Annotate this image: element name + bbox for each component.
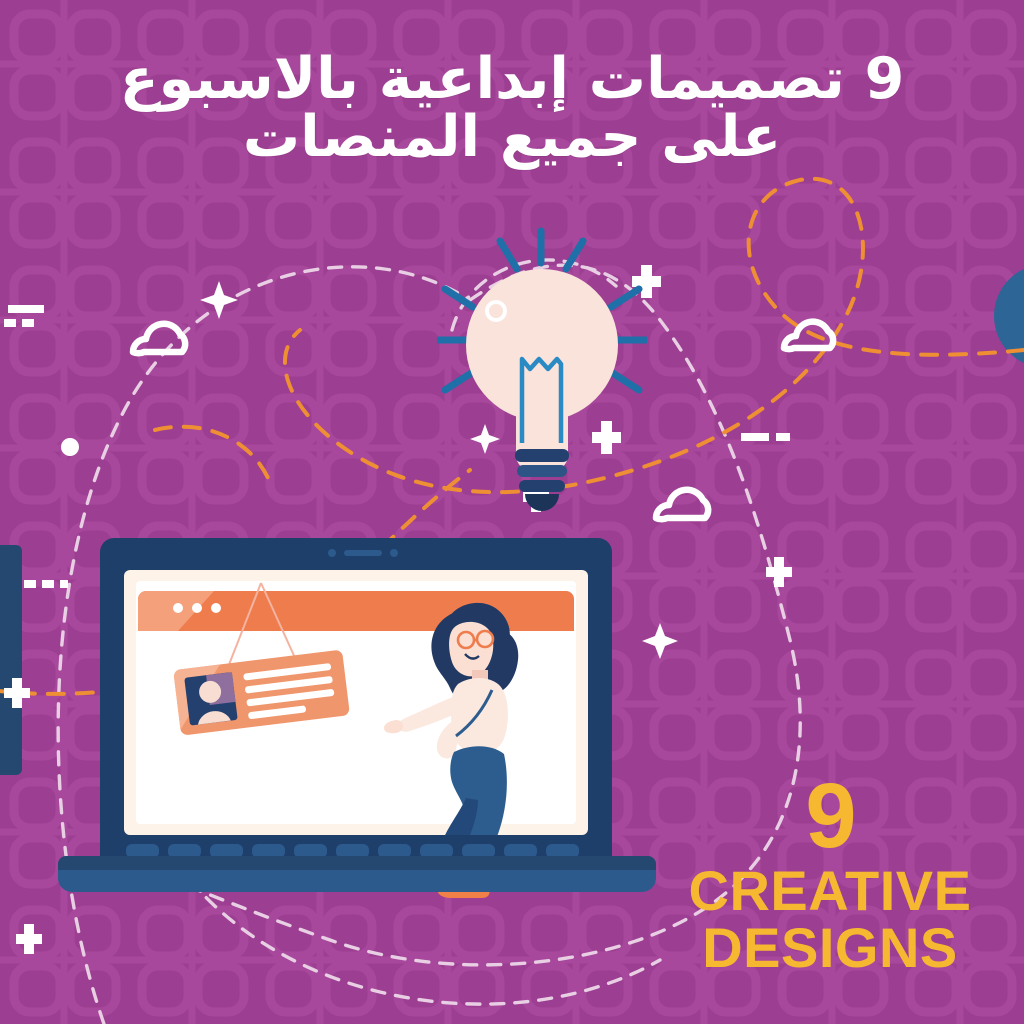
lightbulb-illustration	[437, 225, 647, 515]
headline: 9 تصميمات إبداعية بالاسبوع على جميع المن…	[0, 52, 1024, 166]
ray-top-left	[500, 241, 517, 269]
laptop-illustration	[58, 538, 668, 898]
dashed-curve-bottom	[190, 880, 660, 1004]
cloud-icon-top-right	[784, 322, 833, 349]
id-card-photo	[184, 672, 237, 725]
lightbulb-base	[515, 449, 569, 511]
browser-bar	[138, 591, 574, 631]
ray-left-down	[445, 372, 473, 390]
logo-mark-9: 9	[680, 777, 980, 856]
brand-logo: 9 CREATIVE DESIGNS	[680, 777, 980, 976]
laptop-base-bottom	[58, 870, 656, 892]
browser-dot-2	[192, 603, 202, 613]
laptop-keys	[126, 844, 579, 858]
browser-dot-1	[173, 603, 183, 613]
ray-right-down	[611, 372, 639, 390]
headline-line-1: 9 تصميمات إبداعية بالاسبوع	[60, 52, 964, 108]
blue-rect-accent	[0, 545, 22, 775]
cloud-icon-left	[133, 324, 185, 353]
laptop-base-top	[58, 856, 656, 870]
orange-dashed-small	[155, 427, 268, 478]
ray-left-up	[445, 289, 473, 307]
browser-dot-3	[211, 603, 221, 613]
browser-dots	[173, 603, 221, 613]
ray-top-right	[566, 241, 583, 269]
ray-right-up	[611, 289, 639, 307]
headline-line-2: على جميع المنصات	[60, 110, 964, 166]
logo-word-creative: CREATIVE	[680, 862, 980, 919]
white-dot-accent	[61, 438, 79, 456]
cloud-icon-mid-right	[656, 490, 708, 519]
plus-icon-6	[16, 924, 42, 954]
logo-word-designs: DESIGNS	[680, 919, 980, 976]
character-top	[451, 678, 508, 754]
orange-dashed-loop	[285, 179, 1024, 492]
poster-canvas: 9 تصميمات إبداعية بالاسبوع على جميع المن…	[0, 0, 1024, 1024]
